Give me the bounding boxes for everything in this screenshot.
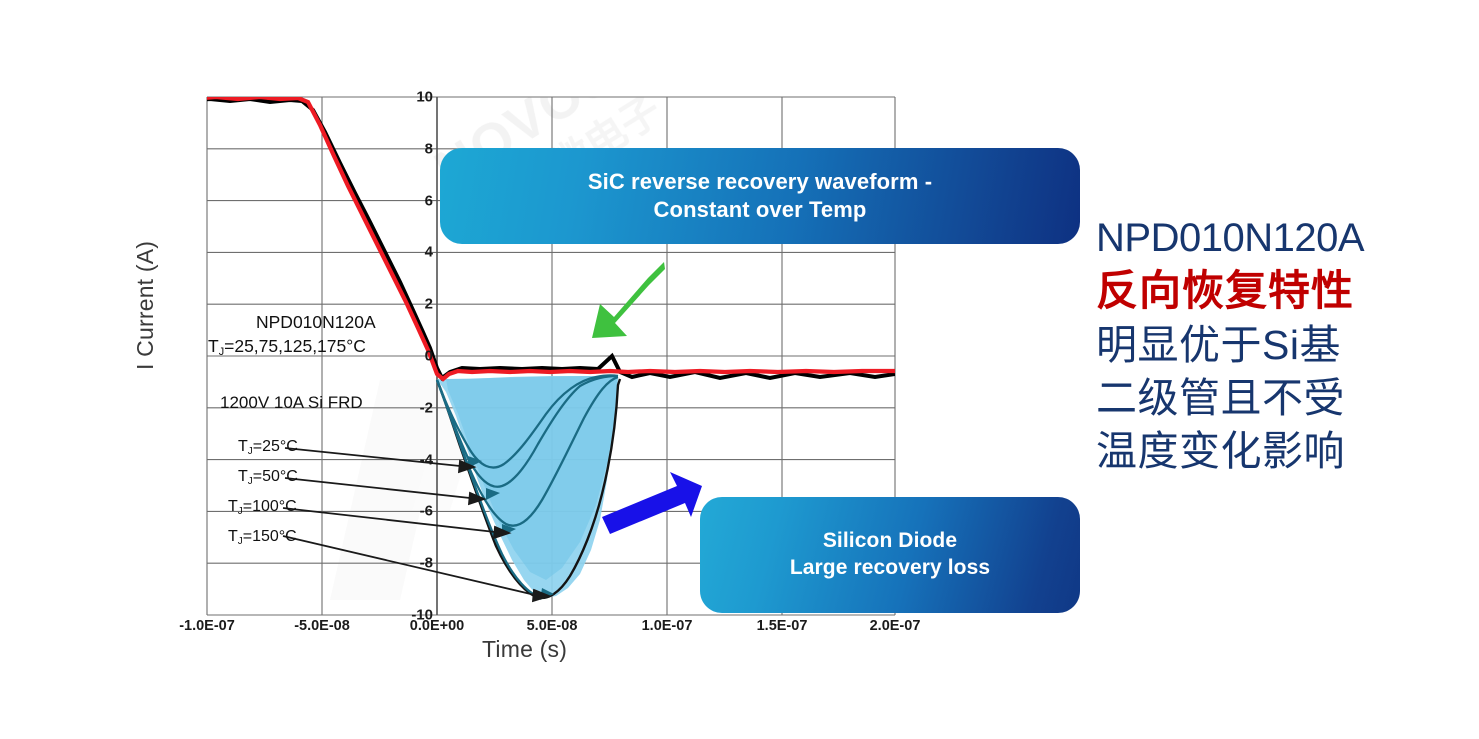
callout-sic-line2: Constant over Temp	[588, 196, 932, 224]
y-tick-8: -6	[420, 503, 433, 520]
x-tick-1: -5.0E-08	[294, 618, 350, 634]
y-tick-10: -10	[411, 607, 433, 624]
slide-root: NOVOSENSE 纳芯微电子	[0, 0, 1479, 739]
y-tick-7: -4	[420, 451, 433, 468]
y-tick-5: 0	[425, 348, 433, 365]
annotation-device: NPD010N120A	[256, 312, 376, 333]
legend-item-tj-50: TJ=50°C	[238, 468, 298, 486]
x-tick-4: 1.0E-07	[642, 618, 693, 634]
y-tick-0: 10	[416, 89, 433, 106]
body-line-3: 温度变化影响	[1096, 425, 1426, 478]
y-tick-3: 4	[425, 244, 433, 261]
x-tick-6: 2.0E-07	[870, 618, 921, 634]
legend-item-tj-100: TJ=100°C	[228, 498, 297, 516]
callout-silicon-diode[interactable]: Silicon Diode Large recovery loss	[700, 497, 1080, 613]
y-tick-9: -8	[420, 555, 433, 572]
annotation-temps: TJ=25,75,125,175°C	[208, 336, 366, 357]
body-line-2: 二级管且不受	[1096, 372, 1426, 425]
x-tick-3: 5.0E-08	[527, 618, 578, 634]
callout-sic-line1: SiC reverse recovery waveform -	[588, 168, 932, 196]
y-tick-6: -2	[420, 399, 433, 416]
annotation-si-frd: 1200V 10A Si FRD	[220, 393, 363, 413]
callout-sic-waveform[interactable]: SiC reverse recovery waveform - Constant…	[440, 148, 1080, 244]
part-number: NPD010N120A	[1096, 212, 1426, 264]
callout-si-line2: Large recovery loss	[790, 555, 990, 582]
body-line-1: 明显优于Si基	[1096, 319, 1426, 372]
y-tick-4: 2	[425, 296, 433, 313]
right-text-panel: NPD010N120A 反向恢复特性 明显优于Si基 二级管且不受 温度变化影响	[1096, 212, 1426, 478]
y-tick-2: 6	[425, 192, 433, 209]
legend-item-tj-150: TJ=150°C	[228, 528, 297, 546]
headline-red: 反向恢复特性	[1096, 264, 1426, 319]
x-tick-5: 1.5E-07	[757, 618, 808, 634]
x-tick-0: -1.0E-07	[179, 618, 235, 634]
y-axis-title: I Current (A)	[132, 241, 159, 370]
annotation-temps-values: =25,75,125,175°C	[224, 336, 366, 356]
y-tick-1: 8	[425, 140, 433, 157]
callout-si-line1: Silicon Diode	[790, 528, 990, 555]
legend-item-tj-25: TJ=25°C	[238, 438, 298, 456]
x-axis-title: Time (s)	[482, 636, 567, 663]
